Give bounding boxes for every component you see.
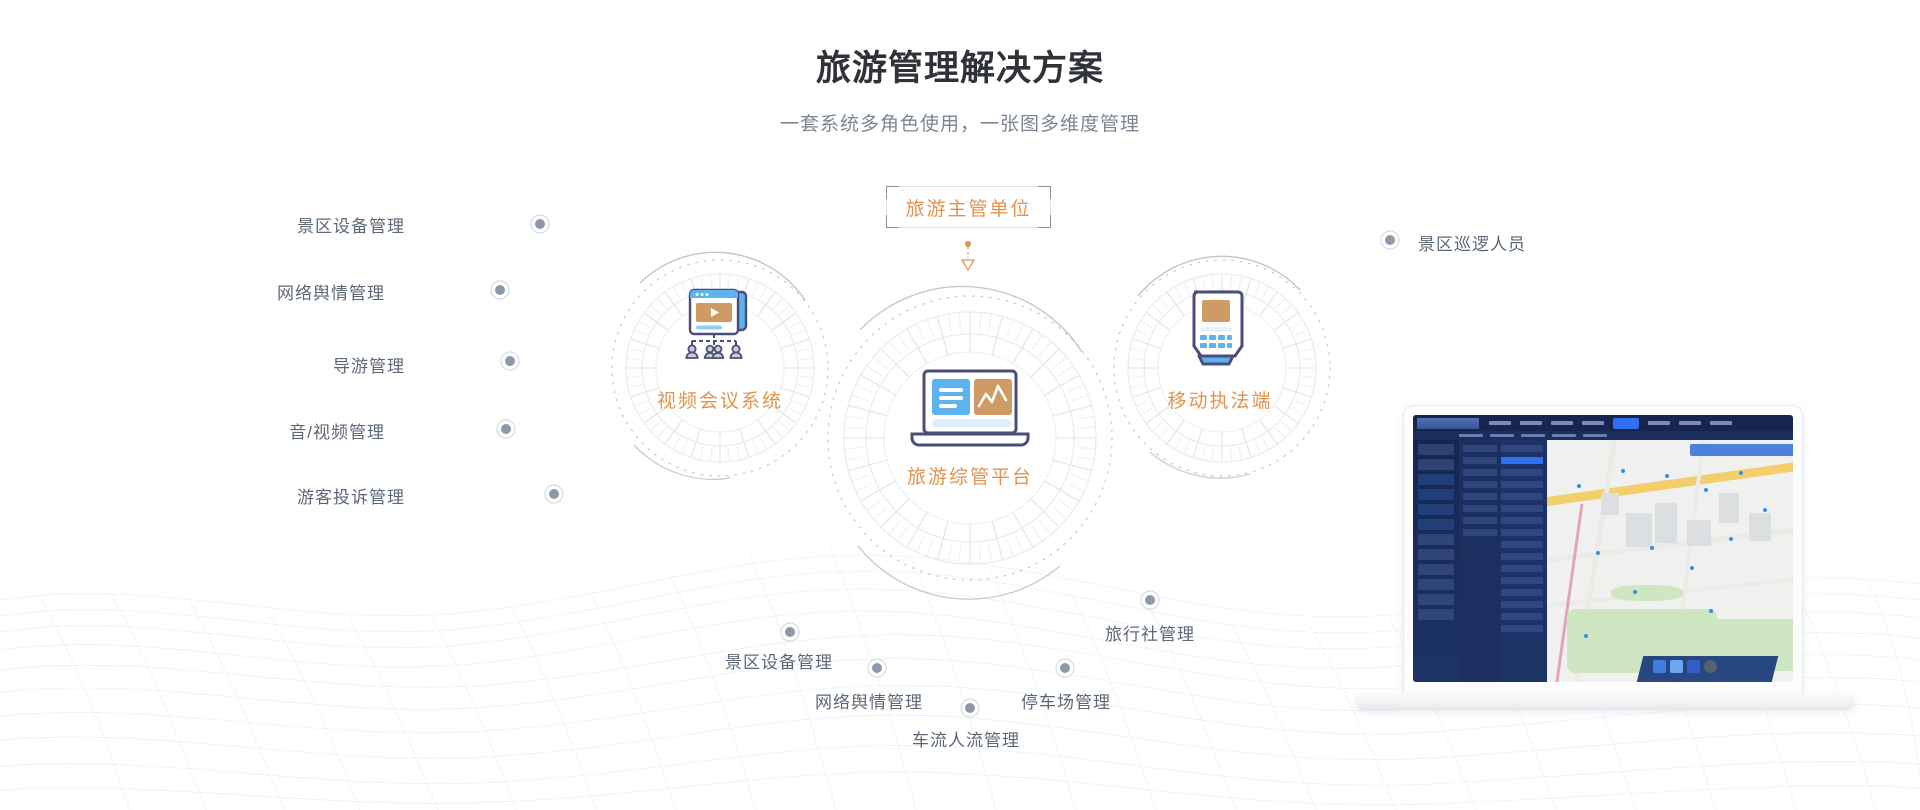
bottom-node-dot-3 — [965, 703, 975, 713]
sidebar-item[interactable] — [1418, 534, 1454, 545]
platform-sidebar[interactable] — [1413, 440, 1459, 682]
ring-video-conference — [612, 252, 828, 479]
box-corner-tr — [1037, 186, 1051, 200]
box-edge-left — [886, 199, 887, 215]
nav-item[interactable] — [1489, 421, 1511, 425]
sidebar-subitem[interactable] — [1418, 504, 1454, 515]
sidebar-item-active[interactable] — [1418, 474, 1454, 485]
sidebar-item[interactable] — [1418, 459, 1454, 470]
page-header: 旅游管理解决方案 一套系统多角色使用，一张图多维度管理 — [0, 0, 1920, 136]
supervisor-unit-label: 旅游主管单位 — [905, 194, 1031, 221]
left-label-2[interactable]: 网络舆情管理 — [185, 279, 385, 304]
dock-icon-2[interactable] — [1670, 660, 1683, 673]
left-node-dot-1 — [535, 219, 545, 229]
box-corner-tl — [886, 186, 900, 200]
sidebar-item[interactable] — [1418, 579, 1454, 590]
left-node-dot-2 — [495, 285, 505, 295]
sidebar-item[interactable] — [1418, 609, 1454, 620]
bottom-label-1[interactable]: 景区设备管理 — [725, 648, 833, 673]
laptop-lid — [1403, 405, 1803, 695]
page-title: 旅游管理解决方案 — [0, 0, 1920, 91]
page-subtitle: 一套系统多角色使用，一张图多维度管理 — [0, 91, 1920, 136]
sidebar-item[interactable] — [1418, 594, 1454, 605]
tree-row[interactable] — [1463, 517, 1497, 524]
platform-screenshot[interactable] — [1413, 415, 1793, 682]
sidebar-subitem[interactable] — [1418, 489, 1454, 500]
bottom-node-dot-1 — [785, 627, 795, 637]
left-label-5[interactable]: 游客投诉管理 — [205, 483, 405, 508]
tab-chip[interactable] — [1583, 434, 1607, 437]
sidebar-item[interactable] — [1418, 564, 1454, 575]
box-edge-bottom — [899, 227, 1038, 228]
box-edge-right — [1050, 199, 1051, 215]
right-node-dot-1 — [1385, 235, 1395, 245]
sidebar-item[interactable] — [1418, 444, 1454, 455]
platform-top-nav[interactable] — [1413, 415, 1793, 431]
bottom-label-4[interactable]: 停车场管理 — [1021, 688, 1111, 713]
bottom-label-2[interactable]: 网络舆情管理 — [815, 688, 923, 713]
box-corner-bl — [886, 214, 900, 228]
tab-chip[interactable] — [1552, 434, 1576, 437]
tree-row[interactable] — [1463, 505, 1497, 512]
node-caption-video-conference: 视频会议系统 — [610, 386, 830, 413]
tree-row[interactable] — [1463, 481, 1497, 488]
nav-item[interactable] — [1582, 421, 1604, 425]
nav-item-active[interactable] — [1613, 418, 1639, 429]
laptop-base — [1355, 693, 1855, 710]
tab-chip[interactable] — [1521, 434, 1545, 437]
laptop-mockup — [1355, 405, 1855, 775]
left-label-1[interactable]: 景区设备管理 — [205, 212, 405, 237]
platform-logo — [1417, 418, 1479, 429]
tree-row[interactable] — [1463, 445, 1497, 452]
tree-row[interactable] — [1463, 529, 1497, 536]
nav-item[interactable] — [1710, 421, 1732, 425]
tab-chip[interactable] — [1459, 434, 1483, 437]
map-canvas[interactable] — [1547, 440, 1793, 682]
left-node-dot-4 — [501, 424, 511, 434]
nav-item[interactable] — [1551, 421, 1573, 425]
dock-icon-1[interactable] — [1653, 660, 1666, 673]
left-label-4[interactable]: 音/视频管理 — [185, 418, 385, 443]
box-corner-br — [1037, 214, 1051, 228]
bottom-node-dot-4 — [1060, 663, 1070, 673]
sidebar-item[interactable] — [1418, 549, 1454, 560]
tree-row[interactable] — [1463, 493, 1497, 500]
left-node-dot-5 — [549, 489, 559, 499]
tree-row[interactable] — [1463, 469, 1497, 476]
tab-chip[interactable] — [1490, 434, 1514, 437]
nav-item[interactable] — [1520, 421, 1542, 425]
platform-tree-panel[interactable] — [1459, 440, 1501, 682]
box-edge-top — [899, 186, 1038, 187]
supervisor-connector — [962, 241, 974, 270]
left-node-dot-3 — [505, 356, 515, 366]
nav-item[interactable] — [1648, 421, 1670, 425]
node-caption-tourism-platform: 旅游综管平台 — [850, 462, 1090, 489]
left-connectors — [491, 215, 640, 503]
laptop-dashboard-icon — [908, 368, 1032, 457]
bottom-node-dot-5 — [1145, 595, 1155, 605]
node-caption-mobile-enforcement: 移动执法端 — [1110, 386, 1330, 413]
video-conference-icon — [680, 288, 760, 365]
platform-tab-bar[interactable] — [1413, 431, 1793, 440]
right-label-1[interactable]: 景区巡逻人员 — [1418, 230, 1526, 255]
bottom-label-3[interactable]: 车流人流管理 — [912, 726, 1020, 751]
nav-item[interactable] — [1679, 421, 1701, 425]
bottom-node-dot-2 — [872, 663, 882, 673]
right-connectors — [1300, 231, 1399, 249]
sidebar-subitem[interactable] — [1418, 519, 1454, 530]
tree-row[interactable] — [1463, 457, 1497, 464]
handheld-device-icon — [1180, 288, 1252, 377]
dock-icon-3[interactable] — [1687, 660, 1700, 673]
map-view-switcher[interactable] — [1690, 444, 1793, 456]
bottom-label-5[interactable]: 旅行社管理 — [1105, 620, 1195, 645]
supervisor-unit-box[interactable]: 旅游主管单位 — [886, 186, 1051, 228]
left-label-3[interactable]: 导游管理 — [205, 352, 405, 377]
